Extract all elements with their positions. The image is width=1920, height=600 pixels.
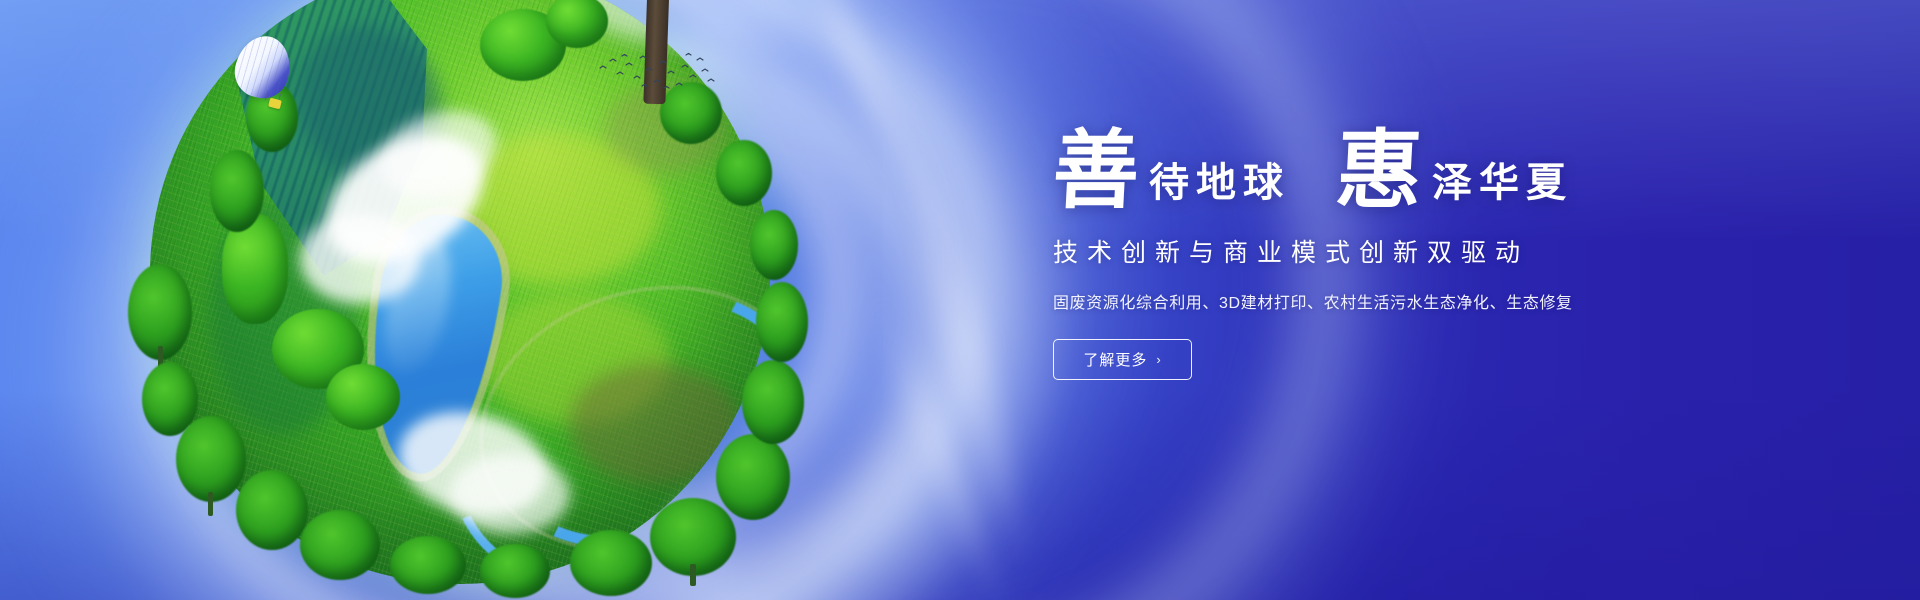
hero-content: 善 待地球 惠 泽华夏 技术创新与商业模式创新双驱动 固废资源化综合利用、3D建… (1053, 132, 1813, 380)
tree-cluster (326, 364, 400, 430)
globe-cloud (450, 454, 570, 534)
hero-description: 固废资源化综合利用、3D建材打印、农村生活污水生态净化、生态修复 (1053, 289, 1813, 313)
headline-char-shan: 善 (1051, 132, 1141, 211)
headline-text-zehuaxia: 泽华夏 (1422, 163, 1573, 211)
learn-more-button[interactable]: 了解更多 › (1053, 339, 1192, 380)
page-title: 善 待地球 惠 泽华夏 (1053, 132, 1813, 211)
hero-banner: 善 待地球 惠 泽华夏 技术创新与商业模式创新双驱动 固废资源化综合利用、3D建… (0, 0, 1920, 600)
learn-more-label: 了解更多 (1083, 349, 1147, 370)
chevron-right-icon: › (1156, 352, 1161, 367)
balloon-basket (268, 98, 282, 110)
hot-air-balloon-icon (236, 36, 306, 126)
balloon-stripes (229, 30, 296, 103)
headline-char-hui: 惠 (1334, 132, 1424, 211)
globe-cloud (300, 214, 420, 304)
headline-text-daidiqiu: 待地球 (1139, 163, 1290, 211)
birds-icon (596, 52, 716, 92)
hero-subtitle: 技术创新与商业模式创新双驱动 (1053, 233, 1813, 269)
